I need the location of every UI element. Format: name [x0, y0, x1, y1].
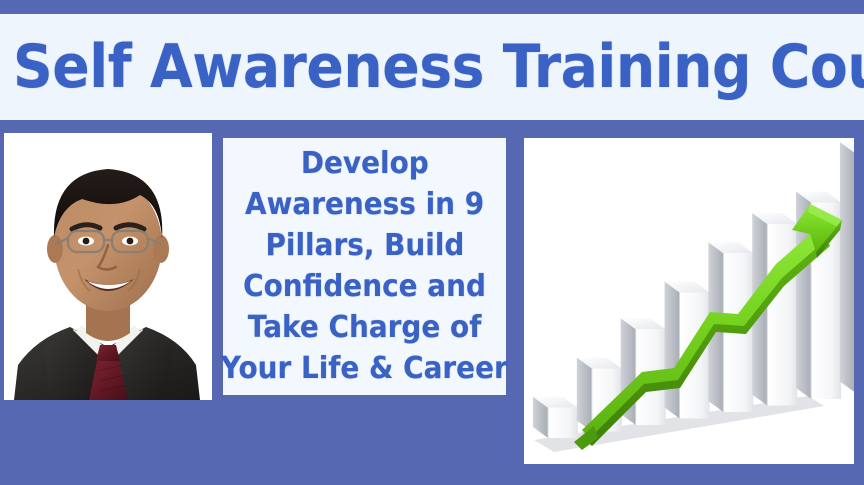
page-title: Self Awareness Training Course — [13, 36, 864, 98]
growth-bar-chart — [524, 138, 854, 464]
instructor-photo — [4, 133, 212, 400]
chart-bar — [840, 142, 854, 392]
chart-bar — [533, 397, 578, 438]
instructor-portrait-frame — [4, 133, 212, 400]
course-promise-text: Develop Awareness in 9 Pillars, Build Co… — [223, 138, 506, 395]
promise-line: Confidence and — [243, 266, 486, 307]
promise-line: Develop — [301, 143, 429, 184]
promise-line: Your Life & Career — [221, 348, 508, 389]
course-promise-panel: Develop Awareness in 9 Pillars, Build Co… — [218, 133, 511, 400]
promise-line: Awareness in 9 — [245, 184, 484, 225]
promise-line: Pillars, Build — [265, 225, 464, 266]
poster-title-banner: Self Awareness Training Course — [0, 14, 864, 120]
growth-chart-frame — [519, 133, 859, 469]
promise-line: Take Charge of — [248, 307, 482, 348]
poster-canvas: Self Awareness Training Course — [0, 0, 864, 485]
